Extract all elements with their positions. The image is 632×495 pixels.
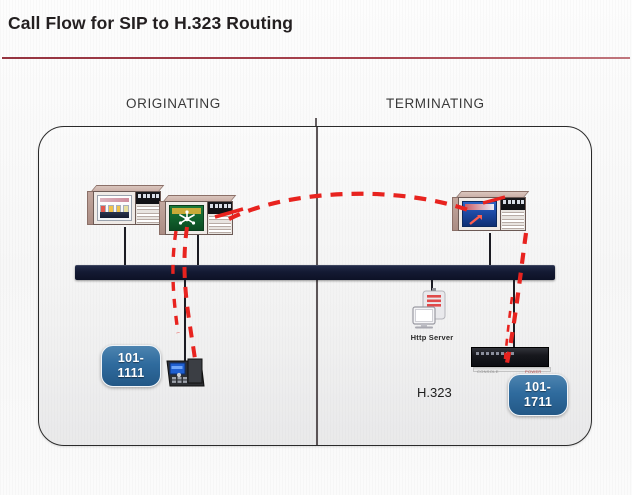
column-caption-terminating: TERMINATING (386, 96, 485, 111)
signalling-path-overlay (39, 127, 591, 445)
signalling-path-to-h323-gateway (507, 233, 526, 363)
title-divider-rule (2, 57, 630, 59)
signalling-path-sip-arc (229, 194, 471, 219)
page-title: Call Flow for SIP to H.323 Routing (8, 13, 293, 34)
signalling-marker-term-server (483, 197, 505, 203)
diagram-canvas: Http Server CONSOLE POWER H.323 101- 111… (38, 126, 592, 446)
signalling-path-to-ip-phone-secondary (173, 231, 178, 333)
signalling-path-to-ip-phone (184, 227, 195, 359)
signalling-path-to-h323-gateway-secondary (505, 297, 512, 359)
column-caption-originating: ORIGINATING (126, 96, 221, 111)
